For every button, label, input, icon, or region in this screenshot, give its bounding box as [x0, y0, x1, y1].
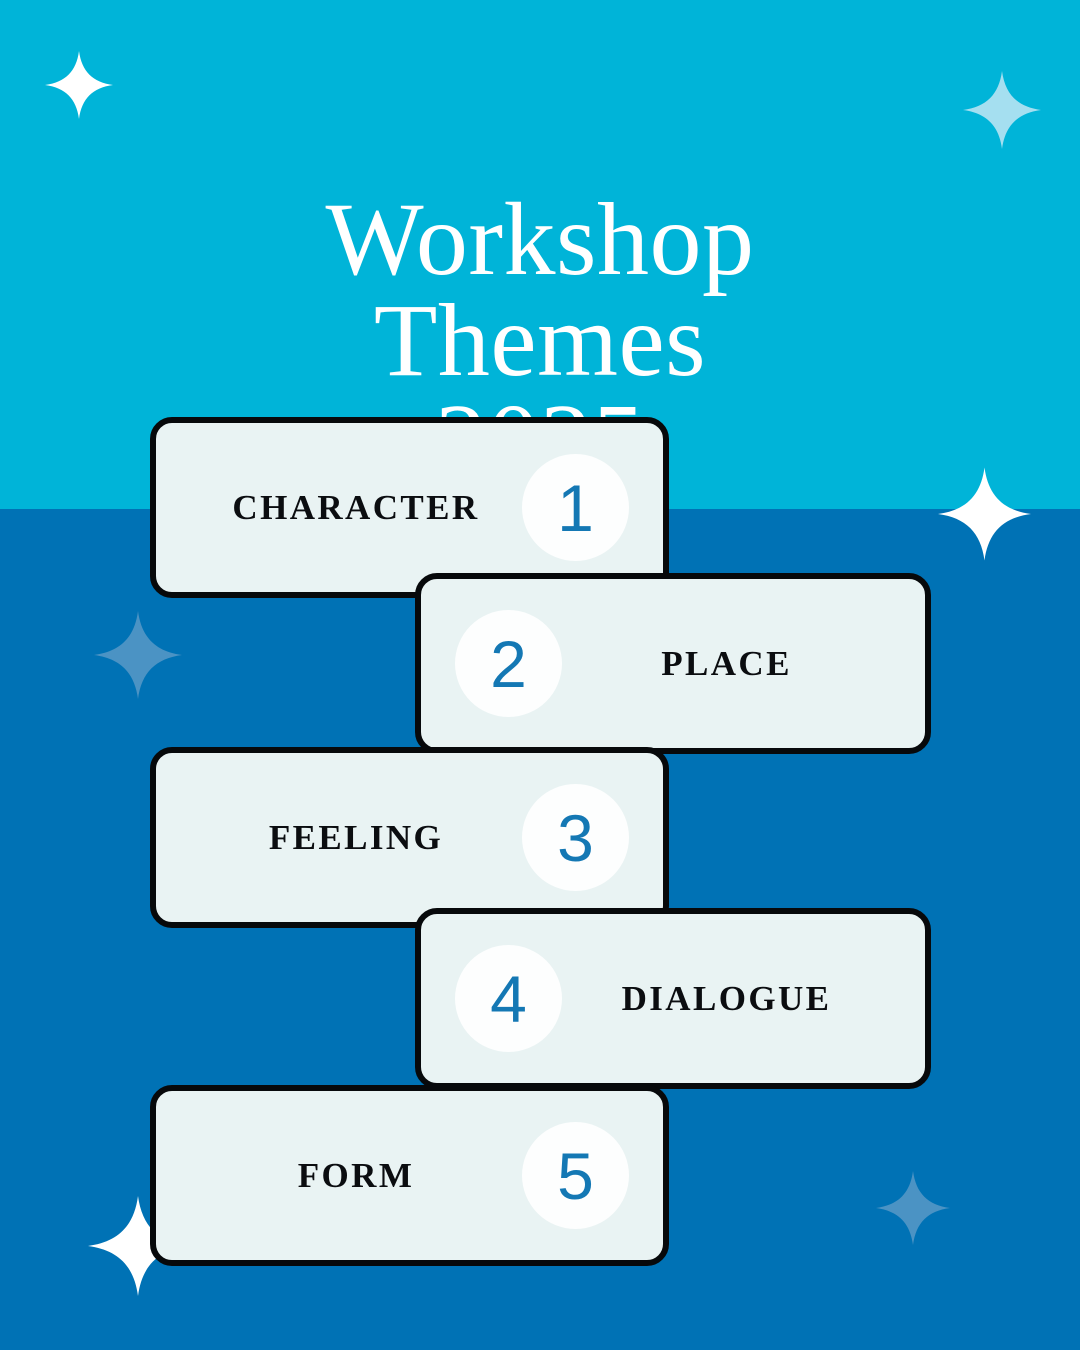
sparkle-top-right-icon	[963, 67, 1041, 153]
theme-card-2-number-badge: 2	[455, 610, 562, 717]
theme-card-2[interactable]: PLACE 2	[415, 573, 931, 754]
sparkle-bottom-right-icon	[876, 1168, 950, 1248]
theme-card-3[interactable]: FEELING 3	[150, 747, 669, 928]
poster-canvas: Workshop Themes 2025 CHARACTER 1 PLACE 2…	[0, 0, 1080, 1350]
sparkle-mid-left-icon	[94, 607, 182, 703]
theme-card-1-number: 1	[557, 475, 594, 541]
theme-card-3-content: FEELING 3	[156, 753, 663, 922]
theme-card-4-label: DIALOGUE	[562, 979, 891, 1019]
theme-card-5-content: FORM 5	[156, 1091, 663, 1260]
theme-card-2-number: 2	[490, 631, 527, 697]
theme-card-3-number-badge: 3	[522, 784, 629, 891]
theme-card-4-content: DIALOGUE 4	[421, 914, 925, 1083]
theme-card-2-label: PLACE	[562, 644, 891, 684]
theme-card-1-number-badge: 1	[522, 454, 629, 561]
title-line-2: Themes	[0, 291, 1080, 392]
theme-card-5-label: FORM	[190, 1156, 522, 1196]
theme-card-2-content: PLACE 2	[421, 579, 925, 748]
theme-card-4-number-badge: 4	[455, 945, 562, 1052]
theme-card-1[interactable]: CHARACTER 1	[150, 417, 669, 598]
theme-card-5-number: 5	[557, 1143, 594, 1209]
theme-card-1-label: CHARACTER	[190, 488, 522, 528]
theme-card-5-number-badge: 5	[522, 1122, 629, 1229]
sparkle-top-left-icon	[45, 48, 113, 122]
theme-card-3-label: FEELING	[190, 818, 522, 858]
title-line-1: Workshop	[0, 190, 1080, 291]
theme-card-1-content: CHARACTER 1	[156, 423, 663, 592]
theme-card-4-number: 4	[490, 966, 527, 1032]
theme-card-5[interactable]: FORM 5	[150, 1085, 669, 1266]
theme-card-4[interactable]: DIALOGUE 4	[415, 908, 931, 1089]
theme-card-3-number: 3	[557, 805, 594, 871]
